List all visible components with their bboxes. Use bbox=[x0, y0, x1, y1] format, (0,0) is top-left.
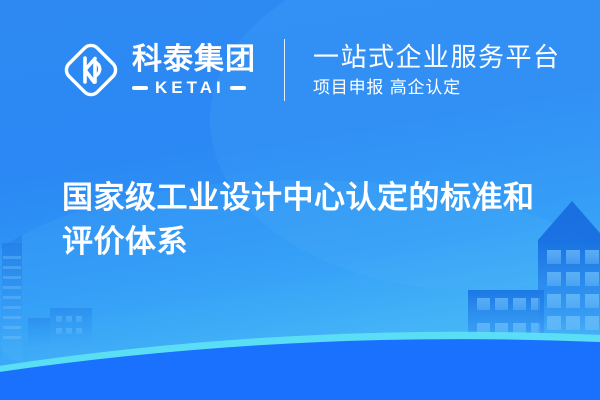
tagline-block: 一站式企业服务平台 项目申报 高企认定 bbox=[313, 42, 561, 99]
header-divider bbox=[284, 39, 285, 101]
horizon-arc-icon bbox=[0, 332, 600, 400]
brand-name-en: KETAI bbox=[148, 79, 230, 97]
skyscraper-silhouette-icon bbox=[2, 235, 22, 360]
wide-block-building-silhouette-icon bbox=[468, 290, 544, 358]
tagline-primary: 一站式企业服务平台 bbox=[313, 42, 561, 72]
brand-lockup[interactable]: 科泰集团 KETAI bbox=[62, 41, 256, 99]
tagline-secondary: 项目申报 高企认定 bbox=[313, 77, 561, 99]
brand-text-block: 科泰集团 KETAI bbox=[132, 44, 256, 97]
banner-header: 科泰集团 KETAI 一站式企业服务平台 项目申报 高企认定 bbox=[0, 0, 600, 140]
brand-name-en-row: KETAI bbox=[132, 79, 256, 97]
page-title: 国家级工业设计中心认定的标准和评价体系 bbox=[62, 176, 554, 264]
low-rise-building-silhouette-icon bbox=[28, 308, 92, 358]
ketai-kp-diamond-icon bbox=[62, 41, 120, 99]
brand-rule-right bbox=[230, 86, 246, 90]
brand-rule-left bbox=[132, 86, 148, 90]
brand-name-cn: 科泰集团 bbox=[132, 44, 256, 76]
promo-banner: 科泰集团 KETAI 一站式企业服务平台 项目申报 高企认定 国家级工业设计中心… bbox=[0, 0, 600, 400]
